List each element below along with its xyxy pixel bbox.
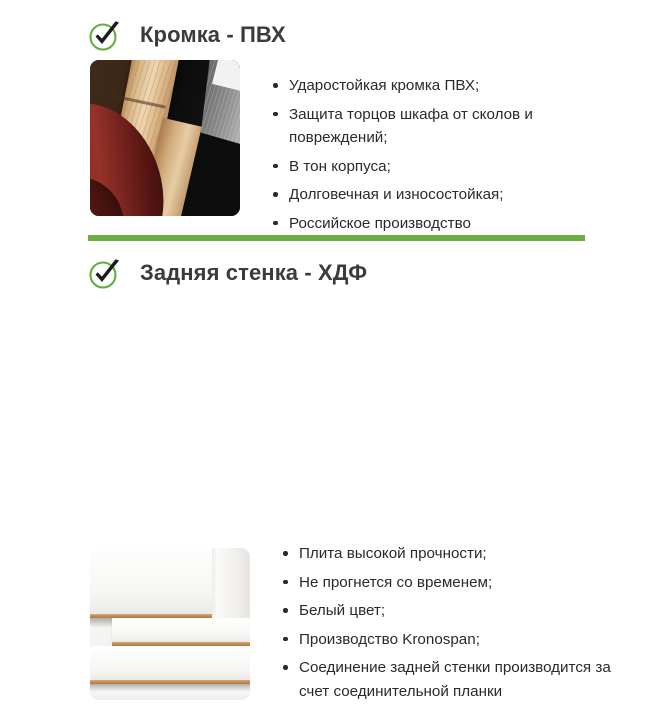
section-back-heading-row: Задняя стенка - ХДФ bbox=[88, 256, 367, 290]
list-item: В тон корпуса; bbox=[272, 155, 602, 179]
check-circle-icon bbox=[88, 18, 122, 52]
list-item: Белый цвет; bbox=[282, 599, 612, 623]
list-item: Российское производство bbox=[272, 212, 602, 236]
list-item: Не прогнется со временем; bbox=[282, 571, 612, 595]
list-item: Соединение задней стенки производится за… bbox=[282, 656, 612, 703]
hdf-boards-photo bbox=[90, 548, 250, 700]
section-edge-heading-row: Кромка - ПВХ bbox=[88, 18, 286, 52]
section-edge-title: Кромка - ПВХ bbox=[140, 24, 286, 46]
list-item: Долговечная и износостойкая; bbox=[272, 183, 602, 207]
list-item: Плита высокой прочности; bbox=[282, 542, 612, 566]
section-divider bbox=[88, 235, 585, 241]
photo-layer-board-bottom-shadow bbox=[90, 684, 250, 691]
list-item: Ударостойкая кромка ПВХ; bbox=[272, 74, 602, 98]
list-item: Защита торцов шкафа от сколов и поврежде… bbox=[272, 103, 602, 150]
photo-layer-board-bottom bbox=[90, 646, 250, 680]
list-item: Производство Kronospan; bbox=[282, 628, 612, 652]
back-panel-feature-list: Плита высокой прочности; Не прогнется со… bbox=[282, 542, 612, 708]
photo-layer-board-top bbox=[90, 548, 212, 614]
check-circle-icon bbox=[88, 256, 122, 290]
edge-banding-photo bbox=[90, 60, 240, 216]
photo-layer-board-middle bbox=[112, 618, 250, 642]
edge-feature-list: Ударостойкая кромка ПВХ; Защита торцов ш… bbox=[272, 74, 602, 240]
section-back-title: Задняя стенка - ХДФ bbox=[140, 262, 367, 284]
